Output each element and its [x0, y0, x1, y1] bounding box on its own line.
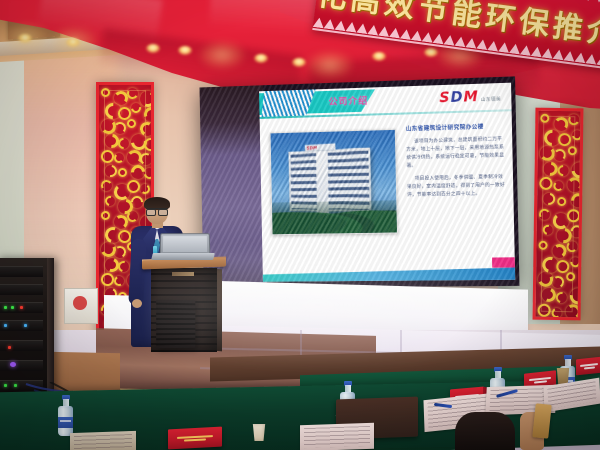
- laptop-screen: [160, 233, 211, 255]
- banner-scallop-tooth: [334, 20, 346, 31]
- wall-box-label: [73, 296, 87, 310]
- attendee-hand-with-device: [520, 404, 554, 450]
- panel-swirl-motif: [567, 209, 580, 222]
- banner-scallop-tooth: [389, 27, 401, 38]
- document-text-lines: [304, 426, 370, 448]
- slide-paragraph: 该项目为办公建筑，总建筑面积约二万平方米，地上十层，地下一层，采用地源热泵系统供…: [406, 136, 505, 171]
- rack-led-indicator: [20, 306, 23, 309]
- slide-building-photo: SDM: [270, 129, 398, 235]
- eyeglasses-icon: [146, 208, 168, 213]
- banner-scallop-tooth: [324, 18, 336, 29]
- banner-scallop-tooth: [400, 29, 412, 40]
- photo-moire-overlay: [271, 130, 397, 234]
- banner-scallop-tooth: [465, 37, 477, 48]
- ceiling-spotlight: [18, 34, 32, 43]
- bottle-label: [58, 417, 73, 428]
- presenter-hand: [132, 299, 142, 308]
- placard-text-line: [580, 363, 598, 367]
- attendee-silhouette: [455, 412, 515, 450]
- rack-unit: [0, 340, 43, 351]
- ceiling-light-glow: [200, 42, 244, 68]
- banner-scallop-tooth: [509, 43, 521, 54]
- banner-scallop-tooth: [553, 49, 565, 60]
- slide-paragraph: 项目投入使用后，冬季供暖、夏季制冷效果良好，室内温度舒适，得到了用户的一致好评，…: [407, 174, 505, 200]
- banner-scallop-tooth: [583, 0, 595, 2]
- ceiling-spotlight: [292, 58, 306, 67]
- rack-unit: [0, 284, 43, 295]
- banner-scallop-tooth: [345, 21, 357, 32]
- placard-text-line: [177, 435, 213, 439]
- panel-swirl-motif: [139, 183, 150, 194]
- laptop: [152, 233, 214, 261]
- logo-subtitle: 山东德美: [481, 96, 501, 103]
- slide-footer-band: [263, 267, 515, 281]
- floor-speaker: [156, 300, 195, 349]
- banner-scallop-tooth: [563, 50, 575, 61]
- ceiling-spotlight: [372, 52, 386, 61]
- water-bottle: [58, 396, 73, 436]
- slide-section-title: 公司介绍: [314, 91, 384, 109]
- presentation-slide: 公司介绍 S D M 山东德美 SDM: [259, 83, 515, 282]
- document-text-lines: [548, 381, 597, 408]
- banner-scallop-tooth: [593, 0, 600, 3]
- banner-scallop-tooth: [476, 39, 488, 50]
- rack-led-indicator: [11, 306, 14, 309]
- banner-scallop-tooth: [444, 34, 456, 45]
- rack-led-indicator: [4, 384, 7, 387]
- rack-unit: [0, 360, 43, 371]
- logo-letter-d: D: [450, 89, 462, 106]
- laptop-keyboard: [151, 253, 215, 260]
- logo-letter-m: M: [463, 89, 478, 106]
- wall-control-box: [64, 288, 98, 324]
- ceiling-spotlight: [66, 38, 80, 47]
- placard-text-line: [184, 438, 206, 441]
- rack-power-indicator: [10, 362, 16, 367]
- placard-text-line: [584, 366, 595, 369]
- name-placard: [168, 427, 222, 450]
- ceiling-spotlight: [254, 54, 268, 63]
- company-logo: S D M 山东德美: [439, 88, 501, 106]
- slide-accent-pink: [492, 257, 515, 267]
- panel-swirl-motif: [540, 114, 549, 123]
- laptop-display: [163, 236, 207, 252]
- banner-scallop-tooth: [378, 26, 390, 37]
- rack-led-indicator: [14, 384, 17, 387]
- rack-unit: [0, 266, 43, 277]
- banner-scallop-tooth: [422, 31, 434, 42]
- name-placard: [576, 357, 600, 376]
- handheld-device: [532, 403, 551, 438]
- rack-led-indicator: [8, 346, 11, 349]
- rack-led-indicator: [24, 324, 27, 327]
- ceiling-spotlight: [146, 44, 160, 53]
- document-text-lines: [74, 434, 132, 450]
- rack-frame: [47, 258, 54, 408]
- banner-scallop-tooth: [542, 48, 554, 59]
- panel-swirl-motif: [567, 145, 577, 155]
- rack-led-indicator: [4, 306, 7, 309]
- banner-scallop-tooth: [411, 30, 423, 41]
- banner-scallop-tooth: [487, 40, 499, 51]
- banner-scallop-tooth: [596, 55, 600, 66]
- av-equipment-rack: [0, 258, 54, 408]
- banner-scallop-tooth: [520, 45, 532, 56]
- ornate-wall-panel-right: [533, 108, 584, 321]
- document-page: [70, 431, 136, 450]
- ceiling-spotlight: [424, 48, 438, 57]
- banner-scallop-tooth: [313, 17, 325, 28]
- logo-letter-s: S: [439, 90, 450, 107]
- banner-scallop-tooth: [367, 24, 379, 35]
- panel-swirl-motif: [553, 181, 563, 191]
- panel-swirl-motif: [101, 88, 110, 97]
- banner-scallop-tooth: [433, 33, 445, 44]
- banner-scallop-tooth: [574, 52, 586, 63]
- banner-scallop-tooth: [585, 53, 597, 64]
- panel-swirl-motif: [564, 303, 582, 320]
- banner-scallop-tooth: [531, 46, 543, 57]
- document-page: [300, 423, 374, 450]
- slide-heading: 山东省建筑设计研究院办公楼: [406, 124, 504, 134]
- projection-screen: 公司介绍 S D M 山东德美 SDM: [200, 76, 520, 288]
- banner-scallop-tooth: [454, 36, 466, 47]
- ceiling-spotlight: [178, 46, 192, 55]
- slide-text-column: 山东省建筑设计研究院办公楼 该项目为办公建筑，总建筑面积约二万平方米，地上十层，…: [406, 124, 506, 206]
- rack-led-indicator: [4, 324, 7, 327]
- panel-swirl-motif: [566, 241, 578, 253]
- banner-scallop-tooth: [356, 23, 368, 34]
- banner-scallop-tooth: [498, 42, 510, 53]
- ceiling-light-glow: [308, 52, 352, 78]
- conference-room-photo: 化高效节能环保推介会 公司介绍 S D M 山东德美: [0, 0, 600, 450]
- placard-text-line: [534, 380, 547, 383]
- podium-nameplate: [172, 272, 194, 276]
